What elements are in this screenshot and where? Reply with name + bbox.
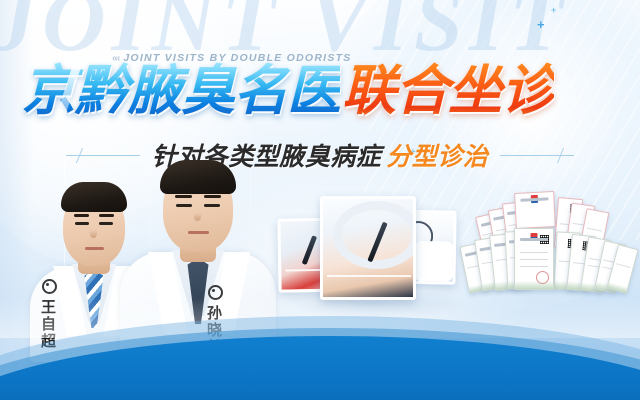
certificate-bar	[586, 228, 602, 232]
doctor-2-brow-right	[204, 195, 221, 198]
doctor-2-hair	[160, 160, 236, 194]
doctor-1-nose	[90, 230, 97, 238]
subtitle-row: 针对各类型腋臭病症分型诊治	[0, 138, 640, 172]
certificate-footer-band	[515, 281, 553, 289]
doctor-2-brow-left	[175, 195, 192, 198]
photo-signing-center	[320, 196, 416, 300]
certificate-title-line	[520, 238, 547, 241]
doctor-1-eye-left	[75, 222, 89, 225]
medical-equipment-icon	[333, 201, 416, 269]
doctor-2-nose	[194, 213, 201, 221]
doctor-2-eye-left	[176, 204, 192, 207]
doctor-2-eye-right	[204, 204, 220, 207]
photo-right-coat	[414, 241, 453, 282]
subtitle-highlight-text: 分型诊治	[386, 142, 488, 171]
certificate-bar	[520, 266, 549, 267]
certificate-back-4	[514, 191, 556, 229]
certificate-front-center	[514, 228, 554, 290]
photo-center-content	[323, 199, 413, 297]
title-part-red: 联合坐诊	[342, 62, 554, 120]
subtitle-dash-right	[500, 155, 574, 156]
sparkle-plus-icon-2: +	[551, 6, 556, 15]
doctor-1-eye-right	[99, 222, 113, 225]
subtitle-dash-left	[66, 155, 140, 156]
certificate-fan	[458, 188, 638, 316]
certificate-bar	[520, 259, 549, 260]
doctor-1-brow-right	[99, 214, 114, 217]
doctor-1-mouth	[85, 247, 104, 250]
pen-icon	[302, 235, 317, 265]
bottom-wave-band	[0, 310, 640, 400]
certificate-bar	[616, 263, 630, 268]
promo-banner: JOINT VISIT «‹JOINT VISITS BY DOUBLE ODO…	[0, 0, 640, 400]
photo-center-desk-edge	[327, 275, 411, 277]
doctor-1-hair	[61, 182, 127, 212]
sparkle-plus-icon-1: +	[537, 18, 545, 31]
photo-group	[278, 196, 456, 304]
certificate-bar	[520, 252, 549, 253]
doctor-2-mouth	[188, 231, 209, 234]
main-title: 京黔腋臭名医联合坐诊	[22, 62, 554, 120]
doctor-1-brow-left	[74, 214, 89, 217]
circle-dot-icon	[42, 279, 57, 294]
